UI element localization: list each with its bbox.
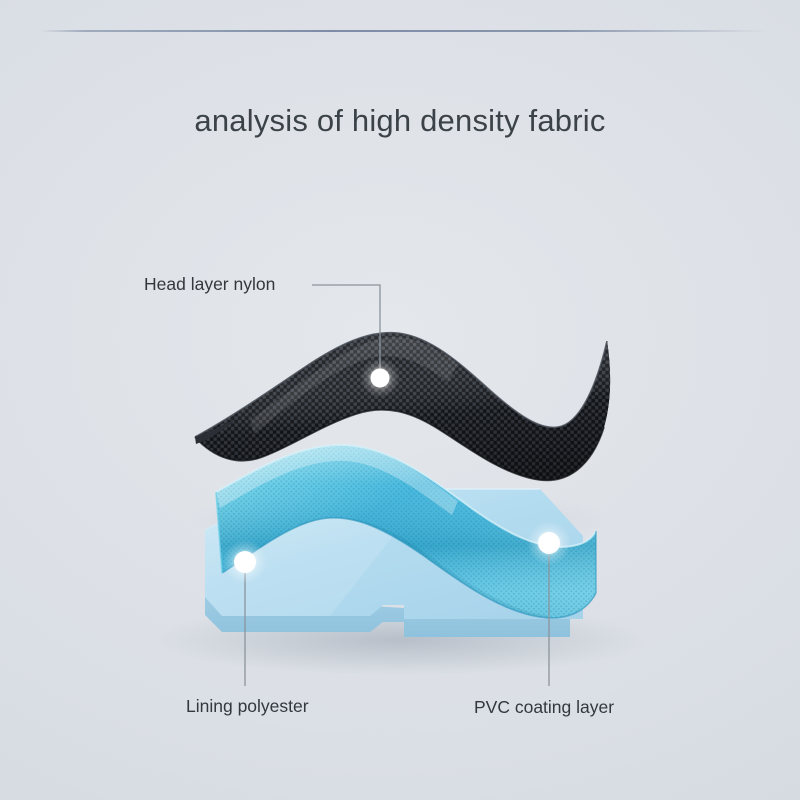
fabric-layers-illustration: [0, 0, 800, 800]
callout-label-head-layer-nylon: Head layer nylon: [144, 274, 275, 295]
diagram-canvas: analysis of high density fabric: [0, 0, 800, 800]
marker-dot-pvc: [538, 532, 560, 554]
callout-label-lining-polyester: Lining polyester: [186, 696, 309, 717]
marker-dot-head-layer: [371, 369, 390, 388]
callout-label-pvc-coating-layer: PVC coating layer: [474, 697, 614, 718]
marker-dot-lining: [234, 551, 256, 573]
